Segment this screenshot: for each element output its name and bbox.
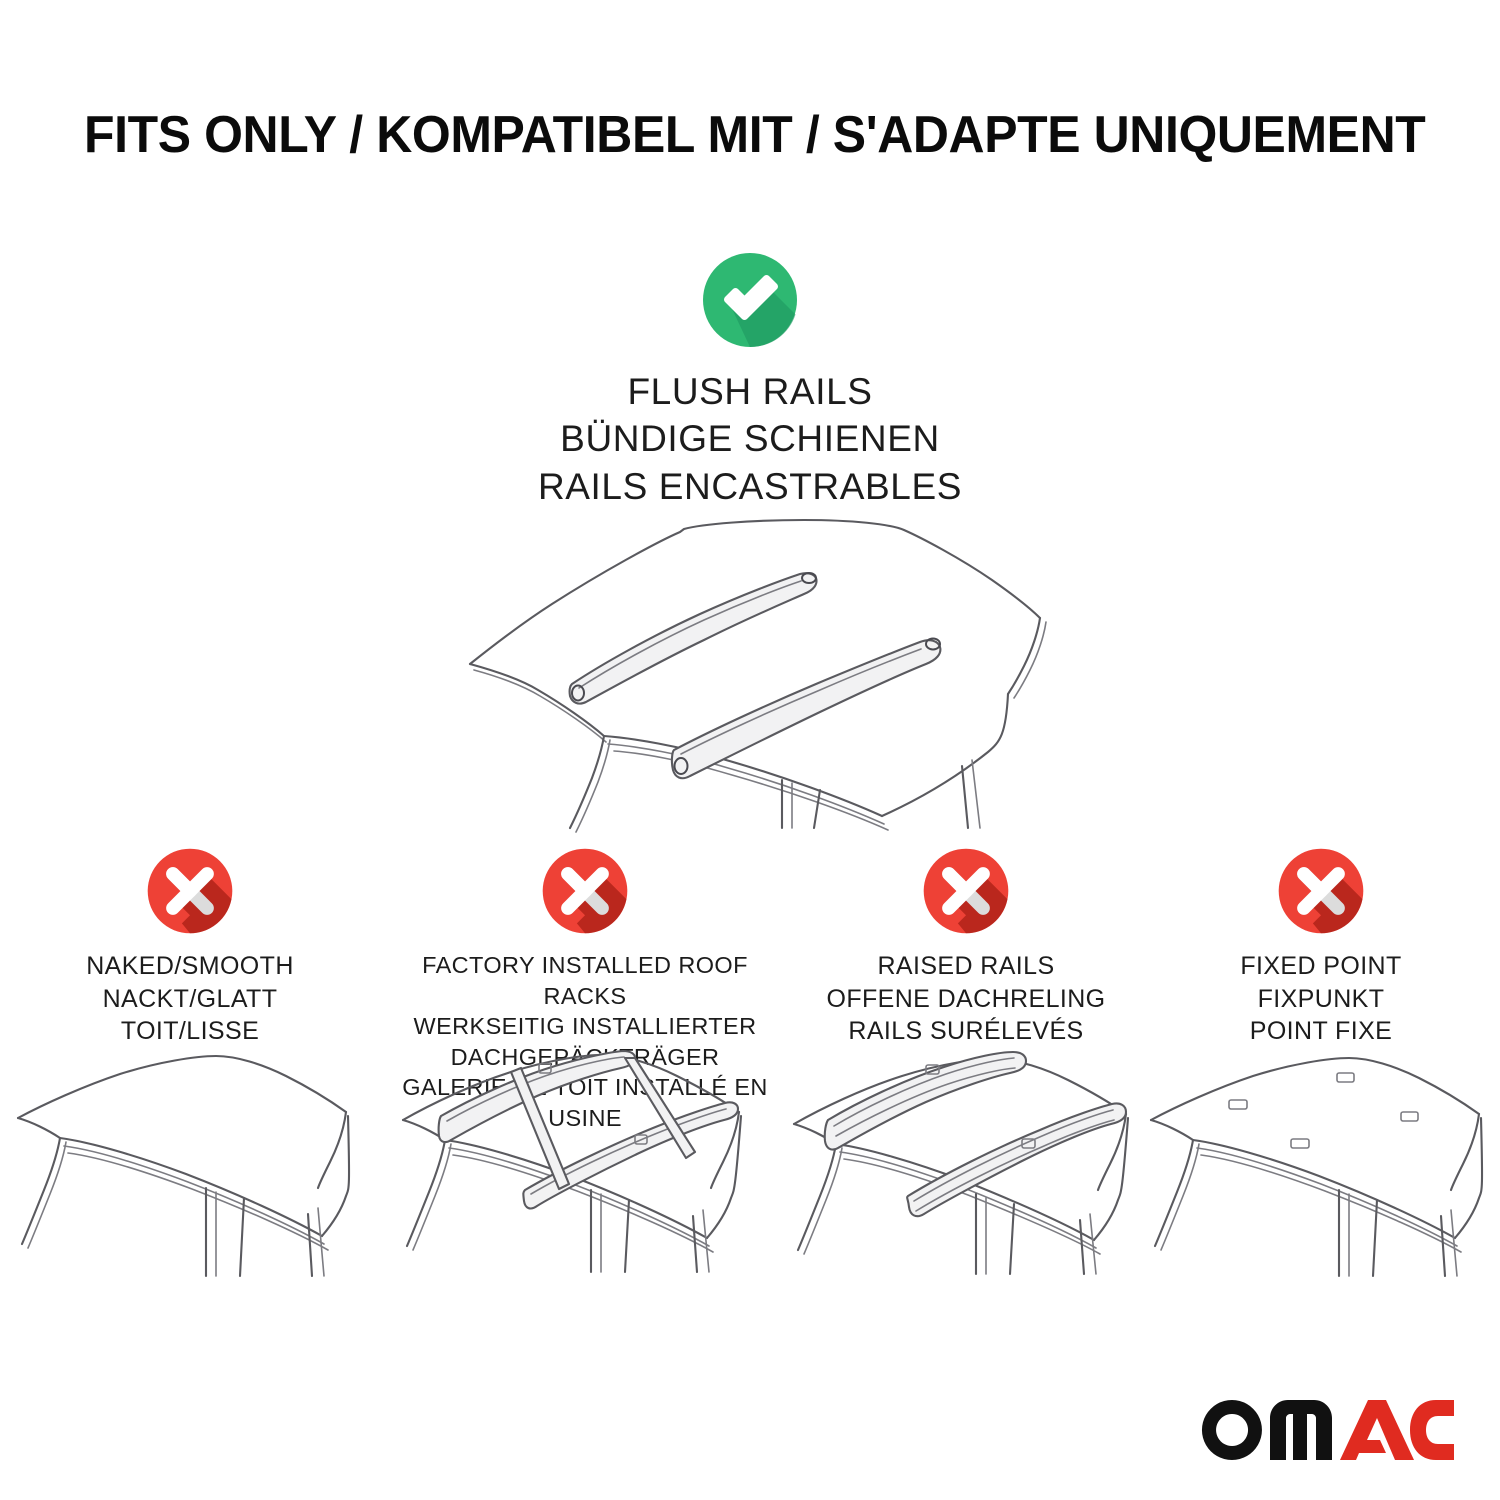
cross-circle-icon — [145, 846, 235, 936]
incompatible-labels: FIXED POINT FIXPUNKT POINT FIXE — [1154, 950, 1488, 1048]
cross-circle-icon — [540, 846, 630, 936]
compatible-label-en: FLUSH RAILS — [0, 368, 1500, 415]
car-roof-with-fixed-points-illustration — [1141, 1046, 1500, 1276]
incompatible-item-naked-smooth: NAKED/SMOOTH NACKT/GLATT TOIT/LISSE — [0, 846, 380, 1048]
car-roof-with-factory-crossbars-illustration — [389, 1042, 781, 1272]
label-line-fr: RAILS SURÉLEVÉS — [796, 1015, 1136, 1048]
incompatible-item-fixed-point: FIXED POINT FIXPUNKT POINT FIXE — [1142, 846, 1500, 1048]
label-line-en: FIXED POINT — [1154, 950, 1488, 983]
label-line-en: RAISED RAILS — [796, 950, 1136, 983]
incompatible-sections: NAKED/SMOOTH NACKT/GLATT TOIT/LISSE — [0, 846, 1500, 1133]
car-roof-bare-illustration — [10, 1046, 370, 1276]
cross-circle-icon — [1276, 846, 1366, 936]
fitment-infographic: FITS ONLY / KOMPATIBEL MIT / S'ADAPTE UN… — [0, 0, 1500, 1500]
incompatible-labels: NAKED/SMOOTH NACKT/GLATT TOIT/LISSE — [18, 950, 362, 1048]
compatible-label-de: BÜNDIGE SCHIENEN — [0, 415, 1500, 462]
compatible-section: FLUSH RAILS BÜNDIGE SCHIENEN RAILS ENCAS… — [0, 250, 1500, 510]
check-circle-icon — [700, 250, 800, 350]
label-line-en: FACTORY INSTALLED ROOF RACKS — [384, 950, 786, 1011]
label-line-de-1: WERKSEITIG INSTALLIERTER — [384, 1011, 786, 1042]
car-roof-with-flush-rails-illustration — [452, 498, 1052, 828]
cross-circle-icon — [921, 846, 1011, 936]
label-line-de: FIXPUNKT — [1154, 983, 1488, 1016]
car-roof-with-raised-rails-illustration — [780, 1044, 1152, 1274]
label-line-en: NAKED/SMOOTH — [18, 950, 362, 983]
label-line-de: NACKT/GLATT — [18, 983, 362, 1016]
incompatible-item-factory-installed-roof-racks: FACTORY INSTALLED ROOF RACKS WERKSEITIG … — [380, 846, 790, 1133]
incompatible-item-raised-rails: RAISED RAILS OFFENE DACHRELING RAILS SUR… — [790, 846, 1142, 1048]
label-line-de: OFFENE DACHRELING — [796, 983, 1136, 1016]
label-line-fr: POINT FIXE — [1154, 1015, 1488, 1048]
omac-logo — [1192, 1394, 1462, 1464]
page-title: FITS ONLY / KOMPATIBEL MIT / S'ADAPTE UN… — [84, 108, 1370, 163]
label-line-fr: TOIT/LISSE — [18, 1015, 362, 1048]
incompatible-labels: RAISED RAILS OFFENE DACHRELING RAILS SUR… — [796, 950, 1136, 1048]
compatible-labels: FLUSH RAILS BÜNDIGE SCHIENEN RAILS ENCAS… — [0, 368, 1500, 510]
